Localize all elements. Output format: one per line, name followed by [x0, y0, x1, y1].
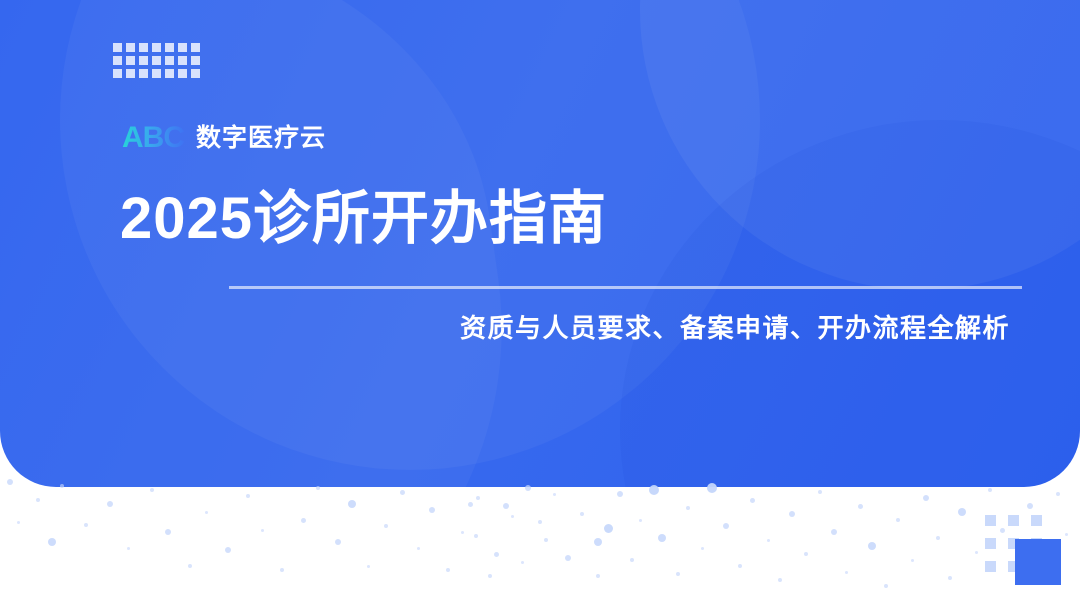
square-grid-cell: [139, 56, 148, 65]
square-grid-cell: [139, 43, 148, 52]
accent-square-decoration: [1015, 539, 1061, 585]
scatter-dot: [476, 496, 480, 500]
square-grid-cell: [165, 69, 174, 78]
scatter-dot: [884, 584, 888, 588]
brand-name: 数字医疗云: [196, 126, 326, 151]
scatter-dot: [767, 539, 770, 542]
square-grid-cell: [139, 69, 148, 78]
scatter-dot: [127, 547, 130, 550]
scatter-dot: [630, 558, 634, 562]
logo-mark-icon: ABC: [122, 123, 184, 153]
scatter-dot: [686, 506, 690, 510]
scatter-dot: [367, 565, 370, 568]
scatter-dot: [594, 538, 602, 546]
scatter-dot: [617, 491, 623, 497]
dot-grid-cell: [985, 538, 996, 549]
scatter-dot: [488, 574, 492, 578]
scatter-dot: [831, 529, 837, 535]
square-grid-cell: [191, 43, 200, 52]
scatter-dot: [1065, 533, 1068, 536]
scatter-dot: [348, 500, 356, 508]
square-grid-cell: [178, 56, 187, 65]
scatter-dot: [417, 547, 420, 550]
scatter-dot: [205, 511, 208, 514]
square-grid-cell: [178, 69, 187, 78]
scatter-dot: [868, 542, 876, 550]
scatter-dot: [107, 501, 113, 507]
square-grid-cell: [152, 43, 161, 52]
scatter-dot-decoration: [0, 470, 1080, 606]
scatter-dot: [750, 498, 755, 503]
scatter-dot: [923, 495, 929, 501]
square-grid-cell: [126, 69, 135, 78]
scatter-dot: [565, 555, 571, 561]
scatter-dot: [474, 534, 478, 538]
square-grid-cell: [178, 43, 187, 52]
scatter-dot: [468, 502, 473, 507]
scatter-dot: [975, 551, 978, 554]
scatter-dot: [503, 503, 509, 509]
scatter-dot: [936, 536, 940, 540]
square-grid-cell: [191, 69, 200, 78]
scatter-dot: [150, 488, 154, 492]
scatter-dot: [596, 574, 600, 578]
scatter-dot: [400, 490, 405, 495]
scatter-dot: [165, 529, 171, 535]
scatter-dot: [858, 504, 863, 509]
scatter-dot: [553, 493, 556, 496]
scatter-dot: [1056, 492, 1060, 496]
square-grid-cell: [113, 56, 122, 65]
scatter-dot: [911, 559, 914, 562]
scatter-dot: [429, 507, 435, 513]
page-subtitle: 资质与人员要求、备案申请、开办流程全解析: [460, 312, 1010, 346]
scatter-dot: [446, 568, 450, 572]
scatter-dot: [723, 523, 729, 529]
scatter-dot: [738, 564, 742, 568]
scatter-dot: [84, 523, 88, 527]
scatter-dot: [48, 538, 56, 546]
scatter-dot: [958, 508, 966, 516]
scatter-dot: [521, 561, 524, 564]
scatter-dot: [188, 564, 192, 568]
scatter-dot: [494, 552, 499, 557]
scatter-dot: [36, 498, 40, 502]
page-title: 2025诊所开办指南: [120, 186, 607, 253]
square-grid-cell: [152, 69, 161, 78]
scatter-dot: [280, 568, 284, 572]
dot-grid-cell: [985, 561, 996, 572]
scatter-dot: [544, 538, 548, 542]
square-grid-cell: [126, 43, 135, 52]
scatter-dot: [335, 539, 341, 545]
scatter-dot: [604, 524, 613, 533]
scatter-dot: [988, 488, 992, 492]
dot-grid-cell: [985, 515, 996, 526]
square-grid-cell: [165, 43, 174, 52]
scatter-dot: [896, 518, 900, 522]
scatter-dot: [580, 512, 584, 516]
square-grid-cell: [165, 56, 174, 65]
scatter-dot: [301, 518, 306, 523]
scatter-dot: [658, 534, 666, 542]
scatter-dot: [461, 531, 464, 534]
scatter-dot: [804, 552, 808, 556]
scatter-dot: [676, 572, 680, 576]
scatter-dot: [818, 490, 822, 494]
scatter-dot: [384, 524, 388, 528]
scatter-dot: [511, 515, 514, 518]
scatter-dot: [639, 519, 642, 522]
square-grid-cell: [191, 56, 200, 65]
scatter-dot: [261, 529, 264, 532]
square-grid-cell: [152, 56, 161, 65]
scatter-dot: [246, 494, 250, 498]
square-grid-cell: [113, 43, 122, 52]
scatter-dot: [538, 520, 542, 524]
square-grid-cell: [113, 69, 122, 78]
scatter-dot: [17, 521, 20, 524]
scatter-dot: [225, 547, 231, 553]
dot-grid-cell: [1031, 515, 1042, 526]
square-grid-cell: [126, 56, 135, 65]
divider-line: [229, 286, 1022, 289]
slide-canvas: ABC 数字医疗云 2025诊所开办指南 资质与人员要求、备案申请、开办流程全解…: [0, 0, 1080, 606]
scatter-dot: [1027, 503, 1033, 509]
scatter-dot: [778, 578, 782, 582]
scatter-dot: [789, 511, 795, 517]
scatter-dot: [701, 547, 704, 550]
brand-logo: ABC 数字医疗云: [122, 118, 326, 158]
square-grid-decoration: [113, 43, 200, 78]
dot-grid-cell: [1008, 515, 1019, 526]
scatter-dot: [845, 571, 848, 574]
scatter-dot: [948, 576, 952, 580]
